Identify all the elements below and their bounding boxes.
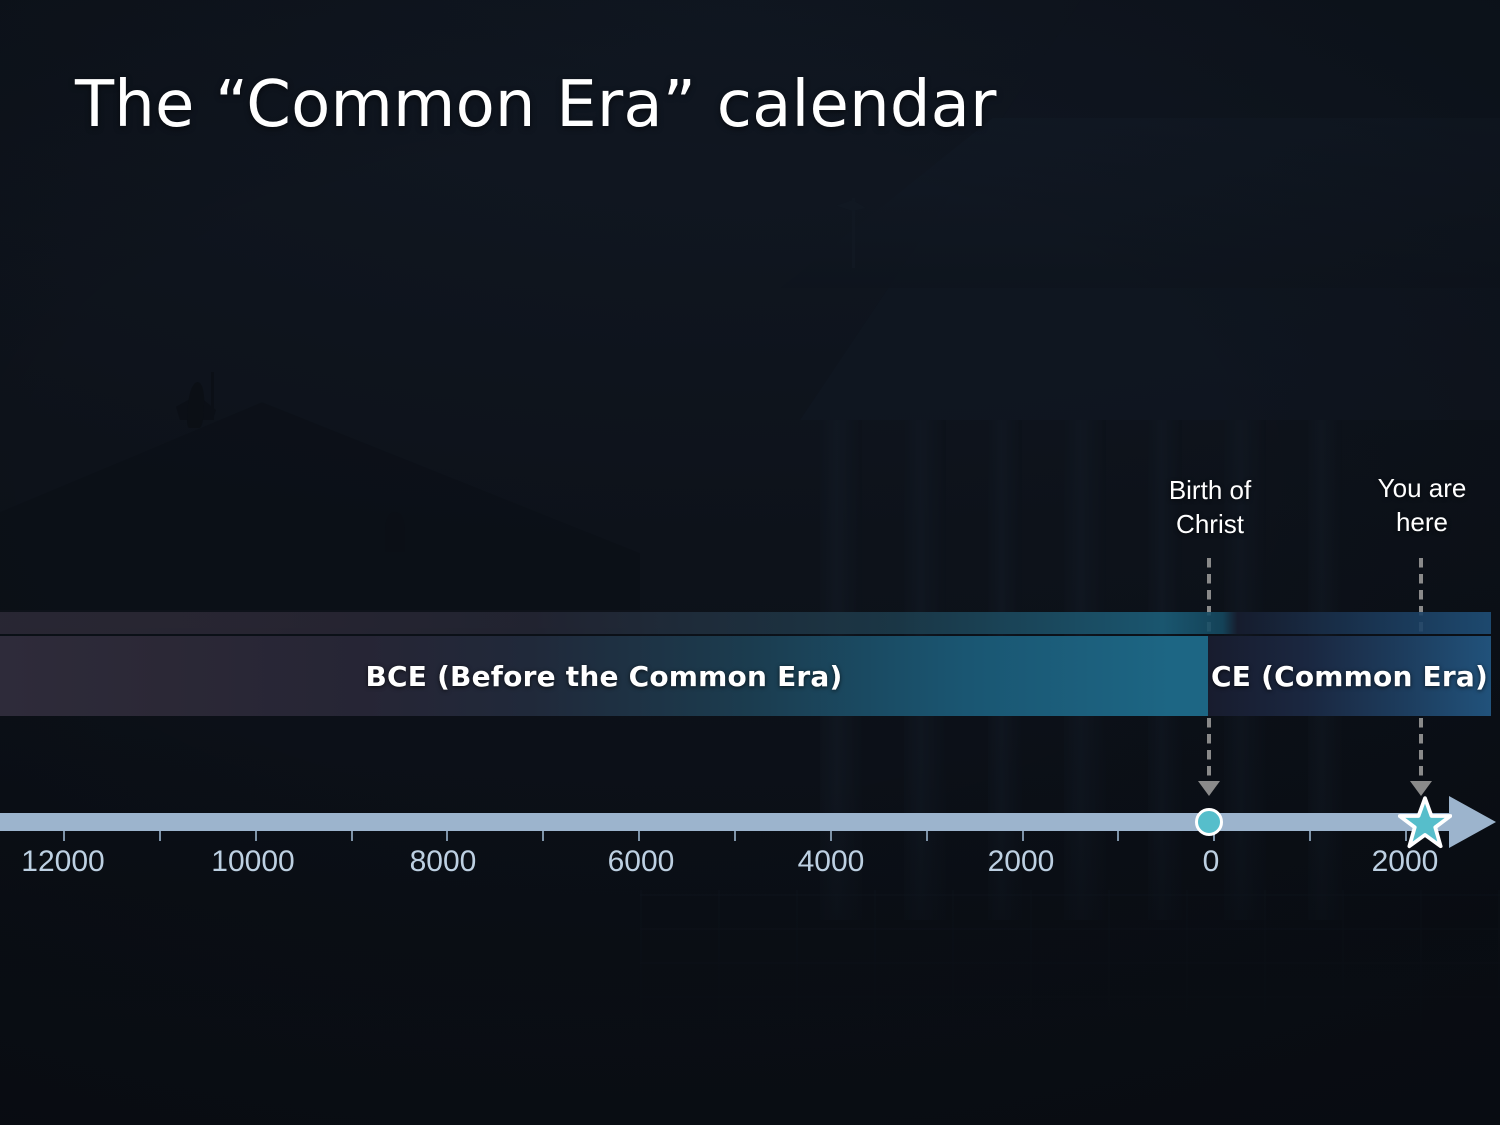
axis-tick: [926, 831, 928, 841]
leader-arrow-you-are-here: [1410, 781, 1432, 796]
axis-label-1: 10000: [211, 845, 294, 879]
callout-line-1: You are: [1326, 472, 1500, 506]
star-icon: [1398, 796, 1452, 850]
axis-tick: [1022, 831, 1024, 841]
era-label-ce: CE (Common Era): [1208, 636, 1491, 716]
axis-tick: [1309, 831, 1311, 841]
axis-label-3: 6000: [608, 845, 675, 879]
axis-label-5: 2000: [988, 845, 1055, 879]
axis-tick: [734, 831, 736, 841]
axis-tick: [351, 831, 353, 841]
building-photo: [0, 0, 1500, 1125]
slide-background: [0, 0, 1500, 1125]
vignette-overlay: [0, 0, 1500, 1125]
era-band-top-strip: [0, 612, 1491, 634]
leader-arrow-birth-of-christ: [1198, 781, 1220, 796]
axis-tick: [63, 831, 65, 841]
callout-line-2: Christ: [1114, 508, 1306, 542]
axis-tick: [542, 831, 544, 841]
axis-tick: [1117, 831, 1119, 841]
axis-tick: [446, 831, 448, 841]
marker-birth-of-christ: [1195, 808, 1223, 836]
callout-birth-of-christ: Birth of Christ: [1114, 474, 1306, 542]
timeline-axis: [0, 813, 1455, 831]
axis-tick: [830, 831, 832, 841]
axis-label-2: 8000: [410, 845, 477, 879]
axis-label-4: 4000: [798, 845, 865, 879]
axis-label-6: 0: [1203, 845, 1220, 879]
era-band: BCE (Before the Common Era) CE (Common E…: [0, 612, 1491, 716]
page-title: The “Common Era” calendar: [75, 72, 997, 139]
callout-line-1: Birth of: [1114, 474, 1306, 508]
callout-line-2: here: [1326, 506, 1500, 540]
callout-you-are-here: You are here: [1326, 472, 1500, 540]
axis-tick: [638, 831, 640, 841]
axis-label-7: 2000: [1372, 845, 1439, 879]
era-label-bce: BCE (Before the Common Era): [0, 636, 1208, 716]
axis-tick: [159, 831, 161, 841]
timeline-arrow-head: [1449, 796, 1496, 848]
axis-label-0: 12000: [21, 845, 104, 879]
axis-tick: [255, 831, 257, 841]
